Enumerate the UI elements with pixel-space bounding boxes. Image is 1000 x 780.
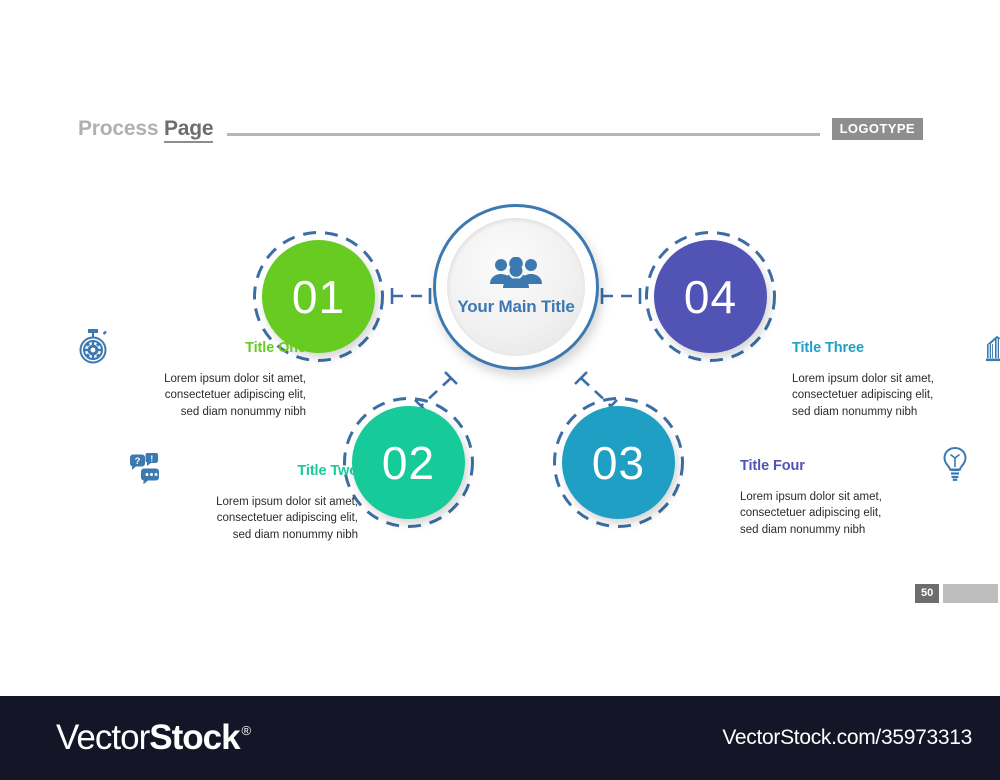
main-hub-circle[interactable]: Your Main Title	[433, 204, 599, 370]
info-block-2-title: Title Two	[297, 463, 358, 479]
page-title: Process Page	[78, 117, 213, 141]
lightbulb-icon	[940, 446, 970, 487]
node-number-01: 01	[292, 270, 345, 324]
info-block-title-two: ? ! Title Two Lorem ipsum dolor sit amet…	[128, 455, 358, 543]
people-group-icon	[488, 257, 544, 294]
page-number-value: 50	[915, 584, 939, 603]
process-node-02[interactable]: 02	[352, 406, 465, 519]
registered-mark-icon: ®	[242, 723, 251, 738]
info-block-title-four: Title Four Lorem ipsum dolor sit amet, c…	[740, 450, 970, 538]
info-block-4-body: Lorem ipsum dolor sit amet, consectetuer…	[740, 489, 970, 538]
main-hub-title: Your Main Title	[457, 297, 574, 317]
header-divider-rule	[227, 133, 819, 136]
node-number-03: 03	[592, 436, 645, 490]
connector-hub-to-01	[392, 288, 430, 304]
info-block-1-title: Title One	[245, 340, 306, 356]
logotype-badge: LOGOTYPE	[832, 118, 923, 140]
vectorstock-logo: Vector Stock ®	[56, 718, 250, 758]
node-number-02: 02	[382, 436, 435, 490]
stopwatch-gear-icon	[76, 328, 110, 369]
page-number-bar	[943, 584, 998, 603]
watermark-footer: Vector Stock ® VectorStock.com/35973313	[0, 696, 1000, 780]
svg-text:?: ?	[135, 456, 141, 467]
page-number-indicator: 50	[915, 584, 998, 603]
page-title-word-2: Page	[164, 117, 213, 143]
main-hub-inner: Your Main Title	[447, 218, 585, 356]
info-block-1-head: Title One	[76, 332, 306, 364]
info-block-4-title: Title Four	[740, 458, 805, 474]
info-block-3-title: Title Three	[792, 340, 864, 356]
process-node-04[interactable]: 04	[654, 240, 767, 353]
bar-chart-icon	[986, 330, 1000, 367]
info-block-3-body: Lorem ipsum dolor sit amet, consectetuer…	[792, 371, 1000, 420]
slide-canvas: Process Page LOGOTYPE	[0, 0, 1000, 780]
svg-text:!: !	[150, 453, 153, 463]
slide-header: Process Page LOGOTYPE	[78, 112, 923, 146]
vectorstock-logo-thin: Vector	[56, 718, 149, 758]
info-block-1-body: Lorem ipsum dolor sit amet, consectetuer…	[76, 371, 306, 420]
vectorstock-logo-bold: Stock	[149, 718, 239, 758]
info-block-title-three: Title Three	[792, 332, 1000, 420]
info-block-title-one: Title One Lorem ipsum dolor sit amet, co…	[76, 332, 306, 420]
page-title-word-1: Process	[78, 117, 158, 140]
connector-hub-to-02	[415, 372, 457, 412]
vectorstock-url: VectorStock.com/35973313	[722, 726, 972, 750]
info-block-2-body: Lorem ipsum dolor sit amet, consectetuer…	[128, 494, 358, 543]
info-block-2-head: ? ! Title Two	[128, 455, 358, 487]
process-node-03[interactable]: 03	[562, 406, 675, 519]
node-number-04: 04	[684, 270, 737, 324]
connector-hub-to-04	[602, 288, 640, 304]
info-block-4-head: Title Four	[740, 450, 970, 482]
speech-bubbles-icon: ? !	[128, 453, 162, 490]
info-block-3-head: Title Three	[792, 332, 1000, 364]
